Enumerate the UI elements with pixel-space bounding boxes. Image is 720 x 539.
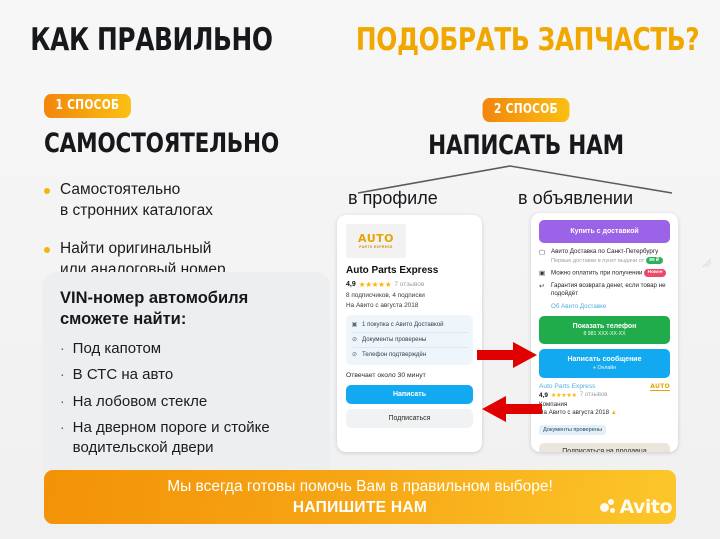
method-one-bullets: Самостоятельно в стронних каталогах Найт… <box>44 179 334 281</box>
shop-logo-main: AUTO <box>358 233 394 244</box>
vin-info-card: VIN-номер автомобиля сможете найти: · По… <box>42 272 330 482</box>
rating-value: 4,9 <box>346 281 356 288</box>
list-item: · На лобовом стекле <box>60 392 312 412</box>
seller-rating-row: 4,9 ★★★★★ 7 отзывов <box>539 392 650 399</box>
bullet-marker-icon: · <box>60 339 65 359</box>
followers-count: 8 подписчиков, 4 подписки <box>346 292 473 299</box>
check-circle-icon: ⊘ <box>351 351 358 358</box>
rating-row: 4,9 ★★★★★ 7 отзывов <box>346 280 473 289</box>
list-item: ⊘ Документы проверены <box>351 334 468 346</box>
poster-root: КАК ПРАВИЛЬНОПОДОБРАТЬ ЗАПЧАСТЬ? 1 СПОСО… <box>0 0 720 539</box>
divider <box>351 347 468 348</box>
bullet-marker-icon: · <box>60 392 65 412</box>
shop-logo-sub: PARTS EXPRESS <box>359 245 392 249</box>
about-delivery-link[interactable]: Об Авито Доставке <box>551 303 670 310</box>
page-title-black: КАК ПРАВИЛЬНО <box>30 22 272 58</box>
method-two-chip: 2 СПОСОБ <box>483 98 570 122</box>
shop-logo: AUTO PARTS EXPRESS <box>346 224 406 258</box>
response-time: Отвечает около 30 минут <box>346 372 473 379</box>
badge-label: 1 покупка с Авито Доставкой <box>362 321 444 328</box>
list-item: ⊘ Телефон подтверждён <box>351 349 468 361</box>
list-item: ↩ Гарантия возврата денег, если товар не… <box>539 282 670 298</box>
vin-item-label: На лобовом стекле <box>73 392 208 412</box>
vin-item-label: В СТС на авто <box>73 365 174 385</box>
star-icon: ★★★★★ <box>551 392 577 399</box>
seller-member-since: На Авито с августа 2018 ▲ <box>539 409 650 416</box>
subscribe-button[interactable]: Подписаться <box>346 409 473 428</box>
show-phone-button[interactable]: Показать телефон 8 981 XXX-XX-XX <box>539 316 670 345</box>
member-since: На Авито с августа 2018 <box>346 302 473 309</box>
list-item: · В СТС на авто <box>60 365 312 385</box>
return-arrow-icon: ↩ <box>539 282 547 298</box>
bullet-dot-icon <box>44 188 50 194</box>
shop-name: Auto Parts Express <box>346 265 473 276</box>
method-two-headline: НАПИСАТЬ НАМ <box>422 130 630 161</box>
avito-watermark: Avito <box>600 496 672 518</box>
label-in-profile: в профиле <box>348 188 438 209</box>
badge-label: Документы проверены <box>362 336 426 343</box>
profile-screenshot-card: AUTO PARTS EXPRESS Auto Parts Express 4,… <box>337 215 482 452</box>
wallet-icon: ▣ <box>539 269 547 277</box>
delivery-subtitle: Первые доставки в пункт выдачи от 89 ₽ <box>551 257 663 264</box>
method-one-headline: САМОСТОЯТЕЛЬНО <box>44 128 276 159</box>
ad-screenshot-card: Купить с доставкой ▢ Авито Доставка по С… <box>531 213 678 452</box>
vin-item-label: На дверном пороге и стойке водительской … <box>73 418 270 459</box>
method-one-column: 1 СПОСОБ САМОСТОЯТЕЛЬНО Самостоятельно в… <box>44 94 334 297</box>
send-message-label: Написать сообщение <box>567 356 641 363</box>
follow-seller-button[interactable]: Подписаться на продавца <box>539 443 670 452</box>
online-status: ● Онлайн <box>539 365 670 371</box>
page-title: КАК ПРАВИЛЬНОПОДОБРАТЬ ЗАПЧАСТЬ? <box>0 22 720 58</box>
vin-card-title: VIN-номер автомобиля сможете найти: <box>60 288 312 330</box>
delivery-sub-text: Первые доставки в пункт выдачи от <box>551 258 644 264</box>
badge-label: Телефон подтверждён <box>362 351 426 358</box>
list-item: ▣ 1 покупка с Авито Доставкой <box>351 319 468 331</box>
list-item: · На дверном пороге и стойке водительско… <box>60 418 312 459</box>
corner-mark-icon <box>702 258 712 268</box>
bullet-marker-icon: · <box>60 365 65 385</box>
list-item: · Под капотом <box>60 339 312 359</box>
delivery-truck-icon: ▢ <box>539 248 547 264</box>
seller-block: Auto Parts Express 4,9 ★★★★★ 7 отзывов К… <box>539 383 670 436</box>
check-circle-icon: ⊘ <box>351 336 358 343</box>
show-phone-label: Показать телефон <box>573 323 637 330</box>
method-one-chip: 1 СПОСОБ <box>44 94 131 118</box>
seller-type: Компания <box>539 401 650 408</box>
method-two-column: 2 СПОСОБ НАПИСАТЬ НАМ <box>396 98 656 161</box>
buy-with-delivery-button[interactable]: Купить с доставкой <box>539 220 670 243</box>
cta-banner-line2: НАПИШИТЕ НАМ <box>293 499 427 517</box>
seller-since-text: На Авито с августа 2018 <box>539 409 609 416</box>
seller-name[interactable]: Auto Parts Express <box>539 383 650 390</box>
phone-number: 8 981 XXX-XX-XX <box>539 331 670 337</box>
refund-title: Гарантия возврата денег, если товар не п… <box>551 282 670 298</box>
bullet-dot-icon <box>44 247 50 253</box>
bullet-marker-icon: · <box>60 418 65 459</box>
online-label: Онлайн <box>598 365 617 371</box>
list-item: ▢ Авито Доставка по Санкт-Петербургу Пер… <box>539 248 670 264</box>
list-item: ▣ Можно оплатить при получении Новое <box>539 269 670 277</box>
payment-text: Можно оплатить при получении <box>551 269 642 276</box>
page-title-gold: ПОДОБРАТЬ ЗАПЧАСТЬ? <box>356 22 699 58</box>
payment-title: Можно оплатить при получении Новое <box>551 269 666 277</box>
delivery-title: Авито Доставка по Санкт-Петербургу <box>551 248 663 256</box>
send-message-button[interactable]: Написать сообщение ● Онлайн <box>539 349 670 378</box>
arrow-right-icon <box>477 340 539 370</box>
avito-dots-icon <box>600 499 616 515</box>
seller-doc-badge: Документы проверены <box>539 425 606 435</box>
new-pill: Новое <box>644 269 666 277</box>
seller-reviews-count[interactable]: 7 отзывов <box>580 392 608 398</box>
price-pill: 89 ₽ <box>646 257 663 264</box>
cta-banner: Мы всегда готовы помочь Вам в правильном… <box>44 470 676 524</box>
bullet-label: Самостоятельно в стронних каталогах <box>60 179 213 222</box>
delivery-box-icon: ▣ <box>351 321 358 328</box>
avito-wordmark: Avito <box>619 496 672 518</box>
reviews-count[interactable]: 7 отзывов <box>394 281 424 288</box>
arrow-left-icon <box>480 394 542 424</box>
star-icon: ★★★★★ <box>359 280 392 289</box>
cta-banner-line1: Мы всегда готовы помочь Вам в правильном… <box>167 478 553 496</box>
list-item: Самостоятельно в стронних каталогах <box>44 179 334 222</box>
vin-item-label: Под капотом <box>73 339 161 359</box>
trust-badges: ▣ 1 покупка с Авито Доставкой ⊘ Документ… <box>346 315 473 366</box>
label-in-ad: в объявлении <box>518 188 633 209</box>
divider <box>351 332 468 333</box>
write-button[interactable]: Написать <box>346 385 473 404</box>
seller-logo: AUTO <box>650 383 670 391</box>
